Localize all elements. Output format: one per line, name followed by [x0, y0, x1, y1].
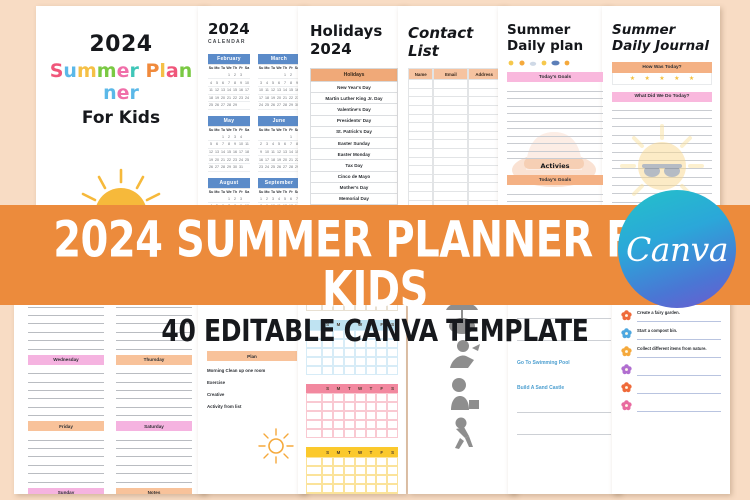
- calendar-day[interactable]: [244, 102, 250, 109]
- mini-calendar-cell[interactable]: [387, 420, 398, 429]
- calendar-day[interactable]: [244, 134, 250, 141]
- mini-calendar-cell[interactable]: [376, 457, 387, 466]
- mini-calendar-cell[interactable]: [344, 475, 355, 484]
- table-row[interactable]: [408, 192, 500, 201]
- holiday-row[interactable]: Memorial Day: [310, 194, 398, 205]
- mini-calendar-cell[interactable]: [355, 484, 366, 493]
- write-line[interactable]: [116, 408, 192, 416]
- table-row[interactable]: [408, 175, 500, 184]
- mini-calendar-cell[interactable]: [355, 493, 366, 494]
- write-line[interactable]: [28, 466, 104, 474]
- mini-calendar-dow: S: [387, 447, 398, 457]
- table-row[interactable]: [408, 166, 500, 175]
- weekly-day-lines[interactable]: [28, 432, 104, 482]
- mini-calendar-cell[interactable]: [344, 393, 355, 402]
- mini-calendar-cell[interactable]: [387, 475, 398, 484]
- flower-icon[interactable]: [621, 364, 632, 375]
- contacts-cell[interactable]: [433, 158, 468, 167]
- calendar-month: MaySuMoTuWeThFrSa12345678910111213141516…: [208, 116, 250, 172]
- rules-item[interactable]: Creative: [207, 392, 297, 397]
- contacts-cell[interactable]: [468, 123, 500, 132]
- holidays-table-header: Holidays: [310, 68, 398, 82]
- flower-icon[interactable]: [621, 346, 632, 357]
- write-line[interactable]: [116, 449, 192, 457]
- write-line[interactable]: [28, 391, 104, 399]
- write-line[interactable]: [28, 449, 104, 457]
- contacts-cell[interactable]: [468, 175, 500, 184]
- banner-subline: 40 EDITABLE CANVA TEMPLATE: [0, 316, 750, 346]
- calendar-day[interactable]: [244, 72, 250, 79]
- weekly-day-block: Notes: [116, 488, 192, 494]
- holiday-row[interactable]: Easter Monday: [310, 149, 398, 160]
- cover-rainbow-letter: r: [129, 60, 138, 82]
- calendar-day[interactable]: [244, 195, 250, 202]
- mini-calendar-cell[interactable]: [344, 402, 355, 411]
- list-item[interactable]: [621, 400, 721, 412]
- calendar-month-body: SuMoTuWeThFrSa12345678910111213141516171…: [258, 64, 300, 110]
- calendar-week-row: 45678910: [208, 79, 250, 87]
- mini-calendar-cell[interactable]: [387, 366, 398, 375]
- sun-icon: [518, 59, 526, 67]
- contacts-cell[interactable]: [433, 132, 468, 141]
- flower-item-text[interactable]: [637, 364, 721, 376]
- todo-empty-line[interactable]: [517, 427, 611, 435]
- mini-calendar-cell[interactable]: [322, 420, 333, 429]
- mini-calendar-cell[interactable]: [333, 466, 344, 475]
- cover-rainbow-letter: e: [117, 60, 130, 82]
- calendar-month-body: SuMoTuWeThFrSa12345678910111213141516171…: [258, 126, 300, 172]
- weekly-day-lines[interactable]: [28, 366, 104, 416]
- weekly-day-block: Friday: [28, 421, 104, 488]
- mini-calendar-cell[interactable]: [387, 357, 398, 366]
- mini-calendar-cell[interactable]: [306, 348, 322, 357]
- mini-calendar-cell[interactable]: [355, 348, 366, 357]
- contacts-cell[interactable]: [408, 158, 433, 167]
- star-icon[interactable]: ★: [659, 75, 664, 82]
- mini-calendar-cell[interactable]: [355, 420, 366, 429]
- cover-rainbow-letter: m: [97, 60, 117, 82]
- contacts-cell[interactable]: [468, 115, 500, 124]
- mini-calendar-dow: M: [333, 384, 344, 394]
- calendar-dow-row: SuMoTuWeThFrSa: [208, 127, 250, 134]
- calendar-week-row: 3456789: [258, 79, 300, 87]
- flower-item-text[interactable]: [637, 400, 721, 412]
- mini-calendar-cell[interactable]: [355, 466, 366, 475]
- mini-calendar-cell[interactable]: [322, 484, 333, 493]
- mini-calendar-cell[interactable]: [355, 402, 366, 411]
- weekly-day-block: Saturday: [116, 421, 192, 488]
- mini-calendar-cells[interactable]: [306, 393, 398, 438]
- mini-calendar-dow: W: [355, 384, 366, 394]
- mini-calendar-cell[interactable]: [333, 493, 344, 494]
- weekly-day-block: Wednesday: [28, 355, 104, 422]
- cover-rainbow-letter: m: [77, 60, 97, 82]
- mini-calendar-dow: F: [376, 384, 387, 394]
- mini-calendar-cell[interactable]: [366, 420, 377, 429]
- mini-calendar-cell[interactable]: [355, 411, 366, 420]
- mini-calendar-cell[interactable]: [344, 348, 355, 357]
- cover-rainbow-title: Summer Planner: [46, 60, 196, 104]
- mini-calendar-cell[interactable]: [387, 484, 398, 493]
- write-line[interactable]: [116, 474, 192, 482]
- rules-item[interactable]: Exercise: [207, 380, 297, 385]
- table-row[interactable]: [408, 97, 500, 106]
- mini-calendar-cell[interactable]: [333, 484, 344, 493]
- calendar-month-body: SuMoTuWeThFrSa12345678910111213141516171…: [208, 126, 250, 172]
- mini-calendar-cell[interactable]: [366, 457, 377, 466]
- mini-calendar-cell[interactable]: [366, 393, 377, 402]
- contacts-cell[interactable]: [468, 80, 500, 89]
- mini-calendar-cell[interactable]: [306, 429, 322, 438]
- contacts-cell[interactable]: [433, 97, 468, 106]
- contacts-cell[interactable]: [433, 192, 468, 201]
- calendar-dow: Sa: [244, 189, 250, 196]
- mini-calendar-cell[interactable]: [322, 402, 333, 411]
- mini-calendar-cell[interactable]: [333, 420, 344, 429]
- contacts-cell[interactable]: [408, 175, 433, 184]
- contacts-cell[interactable]: [468, 149, 500, 158]
- weekly-day-header: Sunday: [28, 488, 104, 494]
- contacts-cell[interactable]: [468, 89, 500, 98]
- contacts-cell[interactable]: [408, 183, 433, 192]
- calendar-day[interactable]: 18: [244, 149, 250, 156]
- write-line[interactable]: [28, 383, 104, 391]
- todo-empty-line[interactable]: [517, 405, 611, 413]
- mini-calendar-cell[interactable]: [376, 429, 387, 438]
- mini-calendar-cell[interactable]: [387, 493, 398, 494]
- contacts-cell[interactable]: [433, 106, 468, 115]
- write-line[interactable]: [116, 432, 192, 440]
- calendar-day[interactable]: 17: [244, 87, 250, 94]
- write-line[interactable]: [116, 457, 192, 465]
- mini-calendar-cell[interactable]: [366, 429, 377, 438]
- holiday-row[interactable]: St. Patrick's Day: [310, 127, 398, 138]
- calendar-dow-row: SuMoTuWeThFrSa: [208, 189, 250, 196]
- weekly-day-lines[interactable]: [116, 432, 192, 482]
- mini-calendar-cell[interactable]: [366, 484, 377, 493]
- contacts-cell[interactable]: [433, 123, 468, 132]
- contacts-cell[interactable]: [433, 183, 468, 192]
- mini-calendar-cell[interactable]: [306, 393, 322, 402]
- mini-calendar-cell[interactable]: [366, 357, 377, 366]
- contacts-cell[interactable]: [408, 192, 433, 201]
- canva-logo[interactable]: Canva: [618, 190, 736, 308]
- calendar-week-row: 16171819202122: [258, 156, 300, 164]
- contacts-cell[interactable]: [408, 115, 433, 124]
- mini-calendar-dow: W: [355, 447, 366, 457]
- journal-star-rating[interactable]: ★★★★★: [612, 73, 712, 85]
- mini-calendar-cell[interactable]: [322, 393, 333, 402]
- contacts-cell[interactable]: [408, 123, 433, 132]
- mini-calendar-cell[interactable]: [376, 411, 387, 420]
- mini-calendar-cell[interactable]: [306, 411, 322, 420]
- mini-calendar-cell[interactable]: [306, 402, 322, 411]
- mini-calendar-cell[interactable]: [333, 475, 344, 484]
- holiday-row[interactable]: Easter Sunday: [310, 138, 398, 149]
- star-icon[interactable]: ★: [689, 75, 694, 82]
- mini-calendar-cell[interactable]: [322, 411, 333, 420]
- rules-item[interactable]: Morning Clean up one room: [207, 368, 297, 373]
- mini-calendar-cell[interactable]: [355, 366, 366, 375]
- mini-calendar-cell[interactable]: [333, 393, 344, 402]
- contacts-cell[interactable]: [433, 166, 468, 175]
- mini-calendar-cell[interactable]: [306, 366, 322, 375]
- calendar-week-row: 12131415161718: [208, 149, 250, 157]
- mini-calendar-cell[interactable]: [344, 484, 355, 493]
- cover-rainbow-letter: u: [63, 60, 77, 82]
- mini-calendar-cell[interactable]: [344, 429, 355, 438]
- cover-rainbow-letter: [139, 60, 146, 82]
- weekly-day-lines[interactable]: [116, 366, 192, 416]
- calendar-week-row: 123: [208, 72, 250, 80]
- calendar-dow-row: SuMoTuWeThFrSa: [258, 189, 300, 196]
- table-row[interactable]: [408, 158, 500, 167]
- contacts-cell[interactable]: [433, 175, 468, 184]
- daily-plan-lines-1: [507, 84, 603, 159]
- mini-calendar-cell[interactable]: [306, 457, 322, 466]
- mini-calendar-cell[interactable]: [376, 348, 387, 357]
- flower-icon[interactable]: [621, 400, 632, 411]
- mini-calendar-cell[interactable]: [387, 402, 398, 411]
- mini-calendar-cell[interactable]: [322, 366, 333, 375]
- mini-calendar-cells[interactable]: [306, 457, 398, 494]
- contacts-cell[interactable]: [408, 149, 433, 158]
- write-line[interactable]: [116, 366, 192, 374]
- flower-item-text[interactable]: Collect different items from nature.: [637, 346, 721, 358]
- write-line[interactable]: [116, 399, 192, 407]
- write-line[interactable]: [116, 383, 192, 391]
- mini-calendar-cell[interactable]: [376, 366, 387, 375]
- mini-calendar-cell[interactable]: [306, 475, 322, 484]
- mini-calendar-cell[interactable]: [344, 466, 355, 475]
- daily-plan-title: Summer Daily plan: [507, 22, 603, 54]
- holiday-row[interactable]: Presidents' Day: [310, 116, 398, 127]
- contacts-cell[interactable]: [468, 106, 500, 115]
- cover-year: 2024: [46, 32, 196, 57]
- write-line[interactable]: [116, 441, 192, 449]
- write-line[interactable]: [28, 441, 104, 449]
- table-row[interactable]: [408, 80, 500, 89]
- mini-calendar-dow: T: [366, 447, 377, 457]
- mini-calendar-cell[interactable]: [333, 402, 344, 411]
- table-row[interactable]: [408, 115, 500, 124]
- write-line[interactable]: [28, 366, 104, 374]
- star-icon[interactable]: ★: [630, 75, 635, 82]
- write-line[interactable]: [28, 474, 104, 482]
- mini-calendar-cell[interactable]: [387, 457, 398, 466]
- mini-calendar-cell[interactable]: [387, 429, 398, 438]
- mini-calendar-cell[interactable]: [376, 357, 387, 366]
- calendar-title: 2024: [208, 20, 300, 38]
- calendar-dow: Sa: [244, 65, 250, 72]
- write-line[interactable]: [28, 399, 104, 407]
- list-item[interactable]: [621, 382, 721, 394]
- write-line[interactable]: [116, 391, 192, 399]
- cover-subtitle: For Kids: [46, 108, 196, 128]
- mini-calendar-cell[interactable]: [333, 457, 344, 466]
- cover-rainbow-letter: n: [179, 60, 193, 82]
- table-row[interactable]: [408, 183, 500, 192]
- contacts-cell[interactable]: [433, 115, 468, 124]
- calendar-day[interactable]: [244, 164, 250, 171]
- calendar-day[interactable]: 25: [244, 156, 250, 163]
- write-line[interactable]: [28, 408, 104, 416]
- mini-calendar-cell[interactable]: [355, 475, 366, 484]
- mini-calendar-cell[interactable]: [376, 466, 387, 475]
- mini-calendar-cell[interactable]: [355, 457, 366, 466]
- calendar-day[interactable]: 11: [244, 141, 250, 148]
- contacts-cell[interactable]: [408, 166, 433, 175]
- table-row[interactable]: [408, 149, 500, 158]
- table-row[interactable]: [408, 106, 500, 115]
- cover-rainbow-letter: e: [117, 82, 130, 104]
- mini-calendar-cell[interactable]: [322, 457, 333, 466]
- mini-calendar-cell[interactable]: [376, 402, 387, 411]
- calendar-week-row: 12: [258, 72, 300, 80]
- star-icon[interactable]: ★: [645, 75, 650, 82]
- contacts-cell[interactable]: [408, 106, 433, 115]
- flower-icon[interactable]: [621, 382, 632, 393]
- mini-calendar-cell[interactable]: [355, 393, 366, 402]
- cloud-icon: [529, 59, 537, 67]
- contacts-cell[interactable]: [468, 140, 500, 149]
- mini-calendar-cell[interactable]: [333, 429, 344, 438]
- mini-calendar-cell[interactable]: [376, 493, 387, 494]
- calendar-month: FebruarySuMoTuWeThFrSa123456789101112131…: [208, 54, 250, 110]
- mini-calendar-cell[interactable]: [376, 475, 387, 484]
- list-item[interactable]: Collect different items from nature.: [621, 346, 721, 358]
- mini-calendar-cell[interactable]: [387, 348, 398, 357]
- mini-calendar-cell[interactable]: [322, 429, 333, 438]
- contacts-cell[interactable]: [408, 89, 433, 98]
- mini-calendar-cell[interactable]: [333, 366, 344, 375]
- contacts-cell[interactable]: [408, 132, 433, 141]
- mini-calendar-cell[interactable]: [376, 484, 387, 493]
- mini-calendar-cell[interactable]: [366, 348, 377, 357]
- calendar-month-name: September: [258, 178, 300, 188]
- rules-item[interactable]: Activity from list: [207, 404, 297, 409]
- table-row[interactable]: [408, 140, 500, 149]
- mini-calendar-cell[interactable]: [322, 357, 333, 366]
- write-line[interactable]: [116, 466, 192, 474]
- contacts-cell[interactable]: [468, 97, 500, 106]
- write-line[interactable]: [116, 374, 192, 382]
- calendar-month-name: May: [208, 116, 250, 126]
- mini-calendar-cell[interactable]: [322, 493, 333, 494]
- flower-item-text[interactable]: [637, 382, 721, 394]
- mini-calendar-cell[interactable]: [344, 357, 355, 366]
- mini-calendar-cell[interactable]: [333, 357, 344, 366]
- daily-plan-goals-band-2: Today's Goals: [507, 175, 603, 185]
- calendar-day[interactable]: 10: [244, 79, 250, 86]
- write-line[interactable]: [28, 374, 104, 382]
- mini-calendar-cell[interactable]: [306, 493, 322, 494]
- star-icon[interactable]: ★: [674, 75, 679, 82]
- table-row[interactable]: [408, 123, 500, 132]
- calendar-month-body: SuMoTuWeThFrSa12345678910111213141516171…: [208, 64, 250, 110]
- holiday-row[interactable]: New Year's Day: [310, 82, 398, 93]
- mini-calendar-header: SMTWTFS: [306, 447, 398, 457]
- calendar-week-row: 23242526272829: [258, 164, 300, 172]
- holiday-row[interactable]: Cinco de Mayo: [310, 172, 398, 183]
- mini-calendar-cell[interactable]: [387, 411, 398, 420]
- mini-calendar-cell[interactable]: [333, 411, 344, 420]
- mini-calendar-cell[interactable]: [387, 393, 398, 402]
- journal-title: Summer Daily Journal: [612, 22, 712, 54]
- mini-calendar-cell[interactable]: [306, 484, 322, 493]
- calendar-week-row: 123: [208, 195, 250, 203]
- contacts-cell[interactable]: [468, 158, 500, 167]
- contacts-cell[interactable]: [468, 183, 500, 192]
- weekly-day-header: Saturday: [116, 421, 192, 431]
- mini-calendar-cell[interactable]: [322, 348, 333, 357]
- mini-calendar-cell[interactable]: [344, 411, 355, 420]
- contacts-cell[interactable]: [408, 80, 433, 89]
- contacts-cell[interactable]: [433, 149, 468, 158]
- contacts-cell[interactable]: [408, 97, 433, 106]
- contacts-cell[interactable]: [433, 89, 468, 98]
- mini-calendar-cell[interactable]: [376, 420, 387, 429]
- mini-calendar-cell[interactable]: [344, 366, 355, 375]
- contacts-cell[interactable]: [468, 166, 500, 175]
- weather-icon-row: [507, 59, 603, 67]
- cover-rainbow-letter: r: [130, 82, 139, 104]
- mini-calendar-cell[interactable]: [344, 420, 355, 429]
- mini-calendar-cell[interactable]: [333, 348, 344, 357]
- mini-calendar-dow: F: [376, 447, 387, 457]
- mini-calendar-cell[interactable]: [366, 493, 377, 494]
- holiday-row[interactable]: Tax Day: [310, 160, 398, 171]
- write-line[interactable]: [28, 432, 104, 440]
- holiday-row[interactable]: Martin Luther King Jr. Day: [310, 93, 398, 104]
- mini-calendar-cell[interactable]: [322, 466, 333, 475]
- mini-calendar-cell[interactable]: [366, 475, 377, 484]
- mini-calendar-cell[interactable]: [355, 357, 366, 366]
- mini-calendar-cell[interactable]: [366, 402, 377, 411]
- contacts-cell[interactable]: [433, 80, 468, 89]
- mini-calendar-cell[interactable]: [366, 466, 377, 475]
- table-row[interactable]: [408, 89, 500, 98]
- holiday-row[interactable]: Mother's Day: [310, 183, 398, 194]
- mini-calendar-cell[interactable]: [376, 393, 387, 402]
- mini-calendar-cell[interactable]: [306, 466, 322, 475]
- mini-calendar-cell[interactable]: [322, 475, 333, 484]
- calendar-day[interactable]: 24: [244, 95, 250, 102]
- mini-calendar-cell[interactable]: [306, 357, 322, 366]
- mini-calendar-cell[interactable]: [387, 466, 398, 475]
- mini-calendar-cell[interactable]: [306, 420, 322, 429]
- mini-calendar-cell[interactable]: [366, 366, 377, 375]
- mini-calendar-cell[interactable]: [344, 493, 355, 494]
- contacts-cell[interactable]: [468, 132, 500, 141]
- holiday-row[interactable]: Valentine's Day: [310, 104, 398, 115]
- calendar-week-row: 9101112131415: [258, 149, 300, 157]
- contacts-cell[interactable]: [433, 140, 468, 149]
- weekly-day-header: Wednesday: [28, 355, 104, 365]
- mini-calendar-cell[interactable]: [366, 411, 377, 420]
- contacts-cell[interactable]: [408, 140, 433, 149]
- journal-how-section: How Was Today? ★★★★★: [612, 62, 712, 85]
- rules-plan-band: Plan: [207, 351, 297, 361]
- list-item[interactable]: [621, 364, 721, 376]
- table-row[interactable]: [408, 132, 500, 141]
- star-icon: [540, 59, 548, 67]
- write-line[interactable]: [28, 457, 104, 465]
- mini-calendar-cell[interactable]: [344, 457, 355, 466]
- contacts-cell[interactable]: [468, 192, 500, 201]
- cover-rainbow-letter: S: [50, 60, 64, 82]
- mini-calendar-cell[interactable]: [355, 429, 366, 438]
